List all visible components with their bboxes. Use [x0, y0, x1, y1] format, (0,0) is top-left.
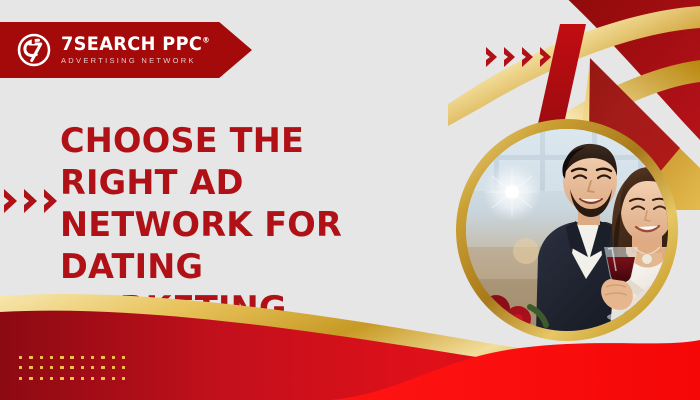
grid-dot: [112, 377, 115, 380]
grid-dot: [122, 377, 125, 380]
grid-dot: [60, 356, 63, 359]
grid-dot: [101, 356, 104, 359]
dating-ad-network-banner: 7SEARCH PPC® ADVERTISING NETWORK C: [0, 0, 700, 400]
grid-dot: [29, 356, 32, 359]
grid-dot: [101, 377, 104, 380]
grid-dot: [60, 366, 63, 369]
couple-photo-clip: [466, 129, 668, 331]
grid-dot: [91, 366, 94, 369]
chevron-right-icon: [22, 188, 40, 214]
grid-dot: [60, 377, 63, 380]
grid-dot: [122, 356, 125, 359]
chevron-right-icon: [502, 46, 518, 68]
seven-swoosh-circle-logo-icon: [16, 32, 52, 68]
page-title: CHOOSE THE RIGHT AD NETWORK FOR DATING M…: [60, 120, 390, 330]
grid-dot: [29, 377, 32, 380]
grid-dot: [81, 377, 84, 380]
grid-dot: [101, 366, 104, 369]
chevron-right-icon: [2, 188, 20, 214]
grid-dot: [70, 377, 73, 380]
gold-dot-grid-decoration: [19, 356, 132, 388]
brand-logo-banner[interactable]: 7SEARCH PPC® ADVERTISING NETWORK: [0, 22, 252, 78]
grid-dot: [40, 377, 43, 380]
logo-text-group: 7SEARCH PPC® ADVERTISING NETWORK: [61, 35, 221, 65]
grid-dot: [91, 356, 94, 359]
chevron-right-icon: [520, 46, 536, 68]
grid-dot: [112, 366, 115, 369]
logo-brand-name-text: 7SEARCH PPC: [61, 33, 202, 55]
left-chevron-decoration: [2, 188, 60, 214]
grid-dot: [81, 366, 84, 369]
grid-dot: [122, 366, 125, 369]
grid-dot: [50, 356, 53, 359]
grid-dot: [40, 366, 43, 369]
grid-dot: [70, 366, 73, 369]
grid-dot: [19, 377, 22, 380]
couple-with-wine-photo-icon: [466, 129, 668, 331]
grid-dot: [29, 366, 32, 369]
grid-dot: [40, 356, 43, 359]
grid-dot: [91, 377, 94, 380]
registered-trademark-icon: ®: [202, 36, 210, 45]
grid-dot: [112, 356, 115, 359]
couple-photo-gold-ring: [456, 119, 678, 341]
grid-dot: [50, 377, 53, 380]
grid-dot: [19, 366, 22, 369]
top-chevron-decoration: [484, 46, 554, 68]
logo-tagline: ADVERTISING NETWORK: [61, 57, 221, 65]
chevron-right-icon: [42, 188, 60, 214]
grid-dot: [50, 366, 53, 369]
chevron-right-icon: [538, 46, 554, 68]
logo-brand-name: 7SEARCH PPC®: [61, 35, 210, 54]
grid-dot: [81, 356, 84, 359]
chevron-right-icon: [484, 46, 500, 68]
grid-dot: [19, 356, 22, 359]
grid-dot: [70, 356, 73, 359]
